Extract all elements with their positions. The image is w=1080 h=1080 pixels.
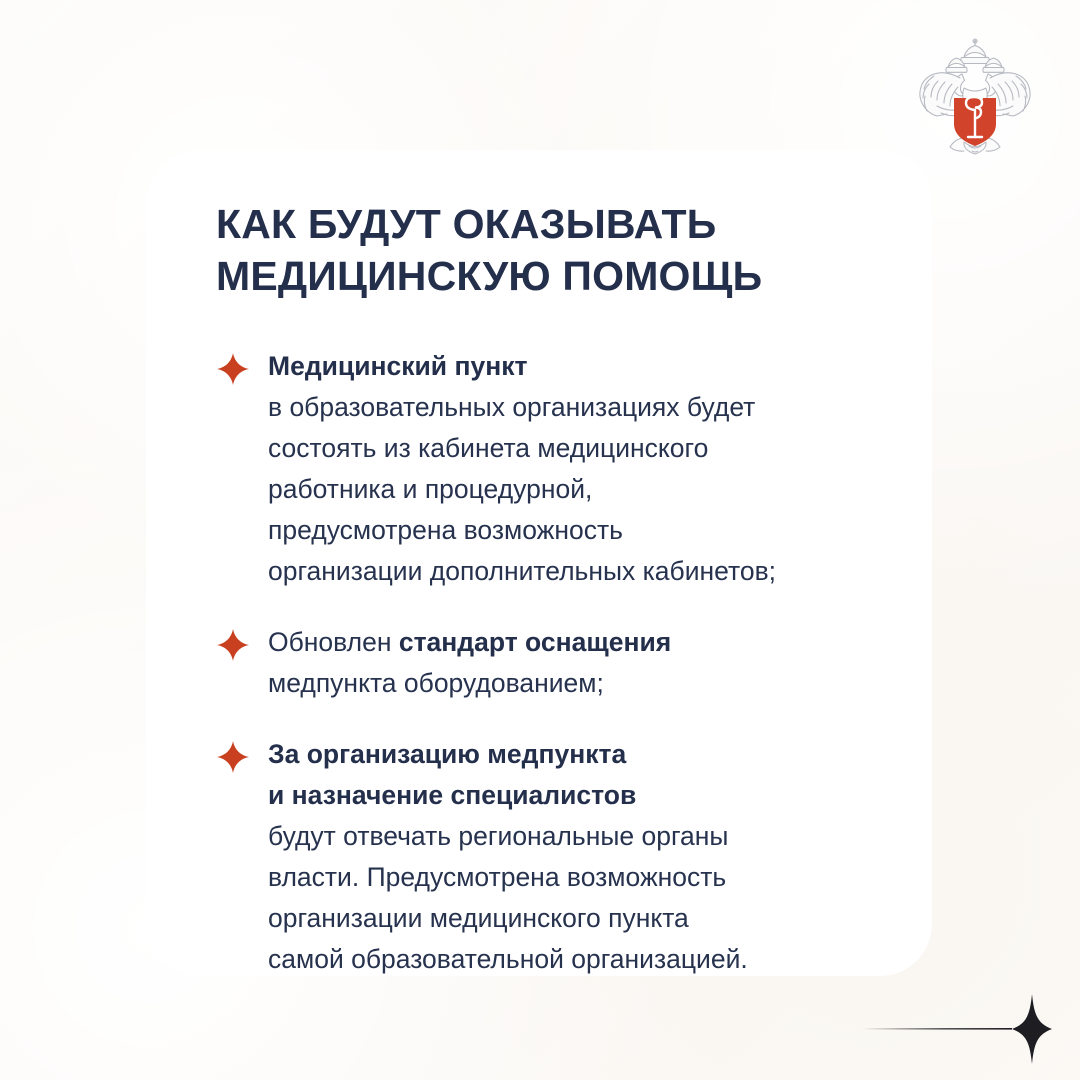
page-title: КАК БУДУТ ОКАЗЫВАТЬ МЕДИЦИНСКУЮ ПОМОЩЬ [216,198,892,302]
list-item-text: Обновлен стандарт оснащения медпункта об… [268,622,892,704]
list-item: За организацию медпункта и назначение сп… [216,734,892,980]
list-item: Медицинский пунктв образовательных орган… [216,346,892,592]
ministry-emblem-icon [912,26,1038,166]
list-item-text: За организацию медпункта и назначение сп… [268,734,892,980]
four-point-star-bullet-icon [216,740,250,774]
bullet-list: Медицинский пунктв образовательных орган… [216,346,892,980]
list-item-body: будут отвечать региональные органы власт… [268,821,748,974]
four-point-star-bullet-icon [216,352,250,386]
list-item-body: в образовательных организациях будет сос… [268,392,776,586]
list-item-lead: стандарт оснащения [399,627,671,657]
list-item: Обновлен стандарт оснащения медпункта об… [216,622,892,704]
four-point-star-bullet-icon [216,628,250,662]
list-item-body: медпункта оборудованием; [268,668,604,698]
poster-canvas: КАК БУДУТ ОКАЗЫВАТЬ МЕДИЦИНСКУЮ ПОМОЩЬ М… [0,0,1080,1080]
list-item-lead: Медицинский пункт [268,351,527,381]
list-item-prefix: Обновлен [268,627,399,657]
sparkle-with-line-icon [862,988,1052,1070]
list-item-lead: За организацию медпункта и назначение сп… [268,739,636,810]
list-item-text: Медицинский пунктв образовательных орган… [268,346,892,592]
content-card: КАК БУДУТ ОКАЗЫВАТЬ МЕДИЦИНСКУЮ ПОМОЩЬ М… [146,150,932,976]
